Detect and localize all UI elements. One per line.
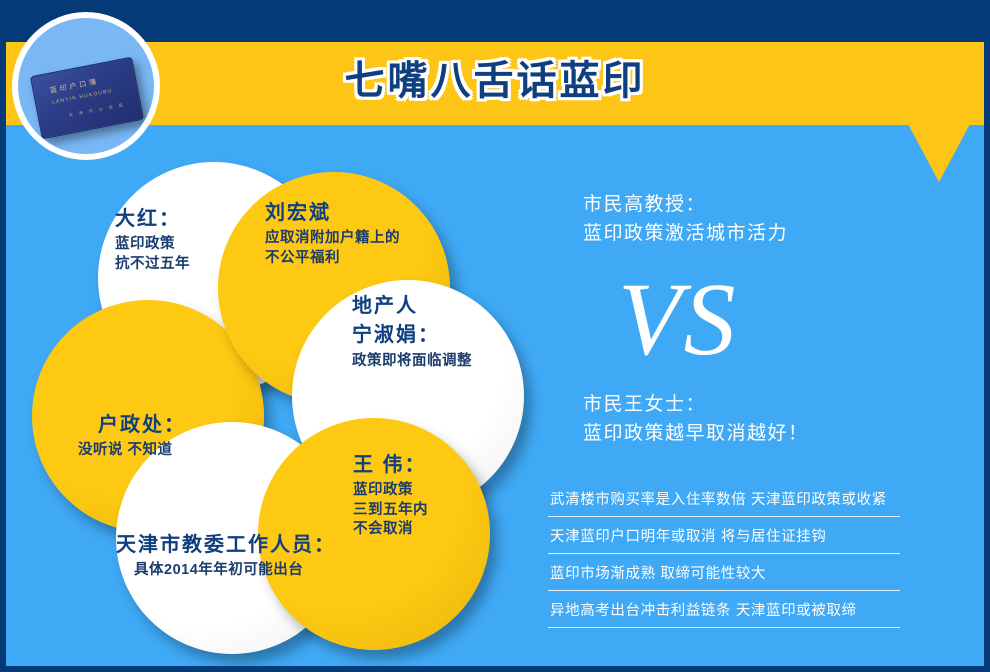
- debate-con: 市民王女士： 蓝印政策越早取消越好！: [583, 390, 809, 449]
- quote-dahong-line1: 蓝印政策: [115, 235, 190, 254]
- quote-huzhengchu: 户政处： 没听说 不知道: [78, 412, 186, 461]
- related-news-list: 武清楼市购买率是入住率数倍 天津蓝印政策或收紧 天津蓝印户口明年或取消 将与居住…: [548, 480, 900, 628]
- quote-dahong-name: 大红：: [115, 206, 190, 232]
- quote-liuhongbin-name: 刘宏斌: [265, 200, 400, 226]
- yellow-pointer-notch: [908, 124, 970, 182]
- frame-edge-left: [0, 0, 6, 672]
- quote-huzhengchu-line1: 没听说 不知道: [78, 441, 186, 460]
- hukou-booklet-image: 蓝印户口簿 LANYIN HUKOUBU 天 津 市 公 安 局: [30, 57, 144, 140]
- blue-seal-hukou-photo: 蓝印户口簿 LANYIN HUKOUBU 天 津 市 公 安 局: [12, 12, 160, 160]
- quote-dahong-line2: 抗不过五年: [115, 255, 190, 274]
- quote-liuhongbin-line2: 不公平福利: [265, 249, 400, 268]
- frame-edge-bottom: [0, 666, 990, 672]
- debate-con-speaker: 市民王女士：: [583, 390, 809, 419]
- quote-ningshujuan-line1: 政策即将面临调整: [352, 352, 472, 371]
- versus-label: VS: [618, 268, 738, 372]
- news-list-item[interactable]: 蓝印市场渐成熟 取缔可能性较大: [548, 554, 900, 591]
- debate-pro-statement: 蓝印政策激活城市活力: [583, 219, 788, 248]
- opinion-pinwheel: 大红： 蓝印政策 抗不过五年 刘宏斌 应取消附加户籍上的 不公平福利 地产人 宁…: [20, 150, 550, 640]
- quote-wangwei-line1: 蓝印政策: [353, 481, 428, 500]
- pinwheel-hub: [272, 372, 296, 396]
- quote-dahong: 大红： 蓝印政策 抗不过五年: [115, 206, 190, 274]
- debate-pro-speaker: 市民高教授：: [583, 190, 788, 219]
- quote-liuhongbin-line1: 应取消附加户籍上的: [265, 229, 400, 248]
- debate-con-statement: 蓝印政策越早取消越好！: [583, 419, 809, 448]
- quote-jiaowei-name: 天津市教委工作人员：: [116, 532, 336, 558]
- quote-liuhongbin: 刘宏斌 应取消附加户籍上的 不公平福利: [265, 200, 400, 268]
- news-list-item[interactable]: 天津蓝印户口明年或取消 将与居住证挂钩: [548, 517, 900, 554]
- frame-edge-right: [984, 0, 990, 672]
- debate-pro: 市民高教授： 蓝印政策激活城市活力: [583, 190, 788, 249]
- booklet-issuer-text: 天 津 市 公 安 局: [68, 102, 125, 119]
- quote-wangwei: 王 伟： 蓝印政策 三到五年内 不会取消: [353, 452, 428, 539]
- quote-jiaowei: 天津市教委工作人员： 具体2014年年初可能出台: [116, 532, 336, 581]
- news-list-item[interactable]: 武清楼市购买率是入住率数倍 天津蓝印政策或收紧: [548, 480, 900, 517]
- quote-jiaowei-line1: 具体2014年年初可能出台: [116, 561, 336, 580]
- quote-wangwei-name: 王 伟：: [353, 452, 428, 478]
- infographic-root: 七嘴八舌话蓝印 蓝印户口簿 LANYIN HUKOUBU 天 津 市 公 安 局…: [0, 0, 990, 672]
- quote-huzhengchu-name: 户政处：: [78, 412, 186, 438]
- header-navy-band: [0, 0, 990, 42]
- news-list-item[interactable]: 异地高考出台冲击利益链条 天津蓝印或被取缔: [548, 591, 900, 628]
- quote-wangwei-line3: 不会取消: [353, 520, 428, 539]
- quote-wangwei-line2: 三到五年内: [353, 501, 428, 520]
- quote-ningshujuan: 地产人 宁淑娟： 政策即将面临调整: [352, 293, 472, 371]
- quote-ningshujuan-name: 宁淑娟：: [352, 322, 472, 348]
- quote-ningshujuan-role: 地产人: [352, 293, 472, 319]
